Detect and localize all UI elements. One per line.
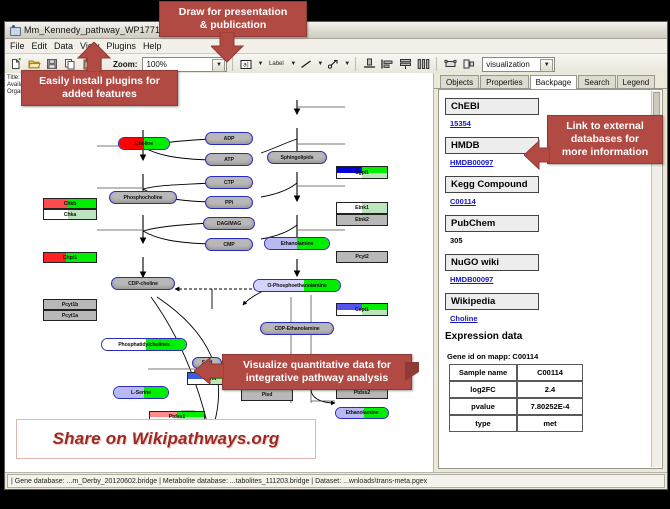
chevron-down-icon[interactable]: ▼ bbox=[290, 61, 296, 67]
database-block-kegg: Kegg Compound C00114 bbox=[445, 174, 650, 206]
menu-item-help[interactable]: Help bbox=[143, 41, 162, 51]
callout-link-line2: databases for bbox=[571, 133, 639, 145]
metabolite-node-ethanolamine[interactable]: Ethanolamine bbox=[264, 237, 330, 250]
gene-node-cept1[interactable]: Cept1 bbox=[336, 303, 388, 316]
database-block-wikipedia: Wikipedia Choline bbox=[445, 291, 650, 323]
metabolite-node-l-serine-left[interactable]: L-Serine bbox=[113, 386, 169, 399]
table-row: Sample name C00114 bbox=[449, 364, 583, 381]
expression-value: met bbox=[517, 415, 583, 432]
share-banner: Share on Wikipathways.org bbox=[16, 419, 316, 459]
chevron-down-icon[interactable]: ▼ bbox=[540, 59, 553, 72]
callout-visualize: Visualize quantitative data for integrat… bbox=[222, 354, 412, 390]
metabolite-node-ppi[interactable]: PPi bbox=[205, 196, 253, 209]
database-block-nugo: NuGO wiki HMDB00097 bbox=[445, 252, 650, 284]
metabolite-node-phosphatidylcholines[interactable]: Phosphatidylcholines bbox=[101, 338, 187, 351]
metabolite-node-sphingolipids[interactable]: Sphingolipids bbox=[267, 151, 327, 164]
visualization-combo[interactable]: visualization ▼ bbox=[482, 57, 555, 72]
gene-node-pcyt1a[interactable]: Pcyt1a bbox=[43, 310, 97, 321]
menu-item-file[interactable]: File bbox=[10, 41, 25, 51]
align-bottom-icon[interactable] bbox=[361, 56, 377, 72]
ungroup-icon[interactable] bbox=[460, 56, 476, 72]
metabolite-node-ethanolamine-right[interactable]: Ethanolamine bbox=[335, 407, 389, 419]
callout-visualize-line1: Visualize quantitative data for bbox=[243, 359, 391, 371]
callout-visualize-tail bbox=[405, 362, 427, 384]
metabolite-node-cdp-ethanolamine[interactable]: CDP-Ethanolamine bbox=[260, 322, 334, 335]
metabolite-node-o-phosphoethanolamine[interactable]: O-Phosphoethanolamine bbox=[253, 279, 341, 292]
visualization-value: visualization bbox=[486, 60, 530, 69]
align-left-icon[interactable] bbox=[379, 56, 395, 72]
label-button[interactable]: Label bbox=[265, 56, 287, 72]
callout-draw-line2: & publication bbox=[200, 19, 267, 31]
expression-data-heading: Expression data bbox=[445, 331, 650, 342]
database-name-nugo: NuGO wiki bbox=[445, 254, 539, 271]
tab-backpage[interactable]: Backpage bbox=[530, 75, 578, 89]
table-row: type met bbox=[449, 415, 583, 432]
status-bar: | Gene database: ...m_Derby_20120602.bri… bbox=[5, 472, 667, 489]
toolbar-separator bbox=[436, 57, 437, 71]
tab-properties[interactable]: Properties bbox=[480, 75, 528, 88]
metabolite-node-ctp[interactable]: CTP bbox=[205, 176, 253, 189]
metabolite-node-cmp[interactable]: CMP bbox=[205, 238, 253, 251]
database-name-pubchem: PubChem bbox=[445, 215, 539, 232]
gene-node-pcyt1b[interactable]: Pcyt1b bbox=[43, 299, 97, 310]
distribute-icon[interactable] bbox=[415, 56, 431, 72]
gene-node-etnk1[interactable]: Etnk1 bbox=[336, 202, 388, 214]
pathway-canvas[interactable]: Title: Availa Organ bbox=[5, 73, 434, 473]
metabolite-node-adp[interactable]: ADP bbox=[205, 132, 253, 145]
screenshot-root: Mm_Kennedy_pathway_WP1771_45176.gpml Fil… bbox=[0, 0, 670, 509]
expression-value: C00114 bbox=[517, 364, 583, 381]
metabolite-node-cdp-choline[interactable]: CDP-choline bbox=[111, 277, 175, 290]
metabolite-node-phosphocholine[interactable]: Phosphocholine bbox=[109, 191, 177, 204]
chevron-down-icon[interactable]: ▼ bbox=[257, 61, 263, 67]
callout-visualize-line2: integrative pathway analysis bbox=[246, 372, 388, 384]
gene-node-pcyt2[interactable]: Pcyt2 bbox=[336, 251, 388, 263]
title-bar: Mm_Kennedy_pathway_WP1771_45176.gpml bbox=[5, 22, 667, 39]
callout-link: Link to external databases for more info… bbox=[547, 115, 663, 164]
database-name-wikipedia: Wikipedia bbox=[445, 293, 539, 310]
tab-legend[interactable]: Legend bbox=[617, 75, 656, 88]
chevron-down-icon[interactable]: ▼ bbox=[317, 61, 323, 67]
tab-search[interactable]: Search bbox=[578, 75, 615, 88]
database-block-pubchem: PubChem 305 bbox=[445, 213, 650, 245]
stack-vertical-icon[interactable] bbox=[397, 56, 413, 72]
database-link-wikipedia[interactable]: Choline bbox=[450, 314, 650, 323]
metabolite-node-atp[interactable]: ATP bbox=[205, 153, 253, 166]
callout-plugins-arrow bbox=[77, 42, 113, 72]
callout-link-line3: more information bbox=[562, 146, 648, 158]
share-banner-text: Share on Wikipathways.org bbox=[53, 429, 280, 449]
gene-node-chpt1[interactable]: Chpt1 bbox=[43, 252, 97, 263]
expression-table: Sample name C00114 log2FC 2.4 pvalue 7.8… bbox=[449, 364, 583, 432]
database-value-pubchem: 305 bbox=[450, 236, 650, 245]
expression-key: pvalue bbox=[449, 398, 517, 415]
menu-item-edit[interactable]: Edit bbox=[32, 41, 48, 51]
callout-link-arrow bbox=[524, 140, 550, 170]
menu-item-data[interactable]: Data bbox=[54, 41, 73, 51]
side-panel-tabs: Objects Properties Backpage Search Legen… bbox=[434, 73, 667, 89]
expression-key: Sample name bbox=[449, 364, 517, 381]
chevron-down-icon[interactable]: ▼ bbox=[344, 61, 350, 67]
status-text: | Gene database: ...m_Derby_20120602.bri… bbox=[7, 474, 665, 488]
expression-value: 2.4 bbox=[517, 381, 583, 398]
callout-plugins-line2: added features bbox=[62, 88, 137, 100]
pathvisio-icon bbox=[9, 25, 20, 36]
gene-node-sgpl1[interactable]: Sgpl1 bbox=[336, 166, 388, 179]
expression-value: 7.80252E-4 bbox=[517, 398, 583, 415]
table-row: log2FC 2.4 bbox=[449, 381, 583, 398]
expression-key: type bbox=[449, 415, 517, 432]
database-link-nugo[interactable]: HMDB00097 bbox=[450, 275, 650, 284]
zoom-label: Zoom: bbox=[113, 60, 137, 69]
metabolite-node-choline-top[interactable]: Choline bbox=[118, 137, 170, 150]
callout-plugins: Easily install plugins for added feature… bbox=[21, 70, 178, 106]
line-icon[interactable] bbox=[298, 56, 314, 72]
anchor-icon[interactable] bbox=[325, 56, 341, 72]
callout-plugins-line1: Easily install plugins for bbox=[39, 75, 160, 87]
expression-key: log2FC bbox=[449, 381, 517, 398]
callout-draw-line1: Draw for presentation bbox=[179, 6, 288, 18]
callout-visualize-arrow bbox=[194, 357, 224, 385]
gene-node-etnk2[interactable]: Etnk2 bbox=[336, 214, 388, 226]
database-link-kegg[interactable]: C00114 bbox=[450, 197, 650, 206]
database-name-kegg: Kegg Compound bbox=[445, 176, 539, 193]
callout-link-line1: Link to external bbox=[566, 120, 644, 132]
metabolite-node-dag-mag[interactable]: DAG/MAG bbox=[203, 217, 255, 230]
table-row: pvalue 7.80252E-4 bbox=[449, 398, 583, 415]
zoom-value: 100% bbox=[146, 60, 166, 69]
gene-node-chkb[interactable]: Chkb bbox=[43, 198, 97, 209]
toolbar-separator bbox=[355, 57, 356, 71]
gene-id-on-mapp: Gene id on mapp: C00114 bbox=[447, 352, 650, 361]
database-name-chebi: ChEBI bbox=[445, 98, 539, 115]
gene-node-chka[interactable]: Chka bbox=[43, 209, 97, 220]
callout-draw-arrow bbox=[211, 32, 251, 64]
tab-objects[interactable]: Objects bbox=[440, 75, 479, 88]
group-icon[interactable] bbox=[442, 56, 458, 72]
